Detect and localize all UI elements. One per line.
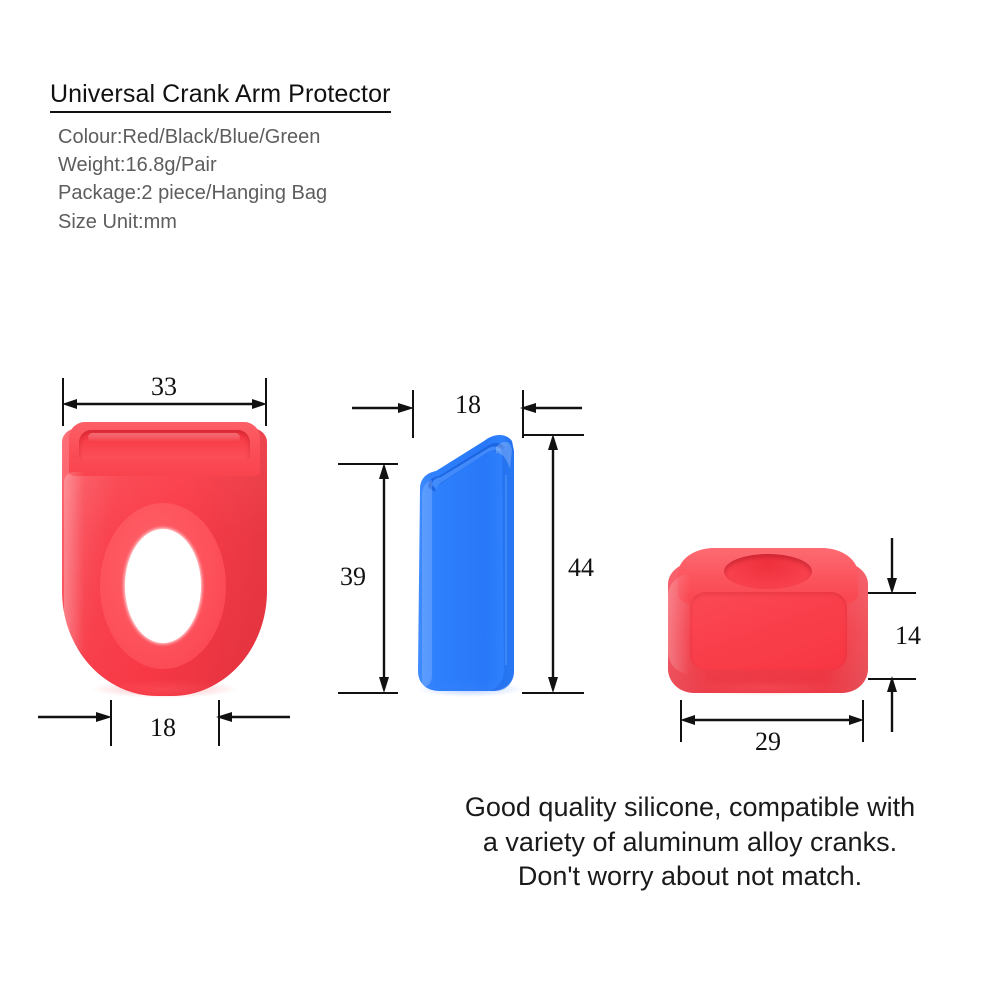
body-highlight [668, 574, 690, 674]
red-block-hole [724, 554, 812, 589]
red-block-front-face [690, 592, 847, 670]
spec-package: Package:2 piece/Hanging Bag [58, 179, 610, 207]
product-caption: Good quality silicone, compatible with a… [400, 790, 980, 894]
page-title: Universal Crank Arm Protector [50, 80, 391, 113]
dim-label-18-bottom: 18 [150, 715, 176, 741]
dim-arrow-39 [376, 463, 392, 693]
blue-protector-body [410, 425, 528, 695]
dim-label-44: 44 [568, 555, 594, 581]
spec-list: Colour:Red/Black/Blue/Green Weight:16.8g… [50, 123, 610, 237]
drop-shadow [686, 680, 852, 696]
dim-arrow-29 [680, 712, 864, 728]
dim-arrow-18a-right [216, 709, 290, 725]
product-image-blue-side [410, 425, 528, 695]
dim-label-14: 14 [895, 623, 921, 649]
dim-arrow-18a-left [38, 709, 112, 725]
body-highlight [64, 472, 84, 652]
drop-shadow [418, 681, 522, 697]
dim-arrow-14-bottom [884, 676, 900, 732]
dim-arrow-18b-left [352, 400, 414, 416]
dim-label-29: 29 [755, 729, 781, 755]
dim-arrow-44 [545, 434, 561, 693]
caption-line-2: a variety of aluminum alloy cranks. [400, 825, 980, 860]
dim-arrow-18b-right [520, 400, 582, 416]
dim-arrow-14-top [884, 538, 900, 594]
drop-shadow [92, 680, 237, 698]
product-info-header: Universal Crank Arm Protector Colour:Red… [50, 80, 610, 236]
red-protector-oval-hole [125, 529, 201, 643]
spec-colour: Colour:Red/Black/Blue/Green [58, 123, 610, 151]
spec-weight: Weight:16.8g/Pair [58, 151, 610, 179]
cavity-highlight [88, 433, 240, 442]
dim-label-39: 39 [340, 564, 366, 590]
spec-size-unit: Size Unit:mm [58, 208, 610, 236]
product-image-red-block-top [668, 548, 868, 693]
caption-line-1: Good quality silicone, compatible with [400, 790, 980, 825]
product-image-red-u-front [62, 428, 267, 696]
caption-line-3: Don't worry about not match. [400, 859, 980, 894]
dim-label-18-top: 18 [455, 392, 481, 418]
dim-label-33: 33 [151, 374, 177, 400]
